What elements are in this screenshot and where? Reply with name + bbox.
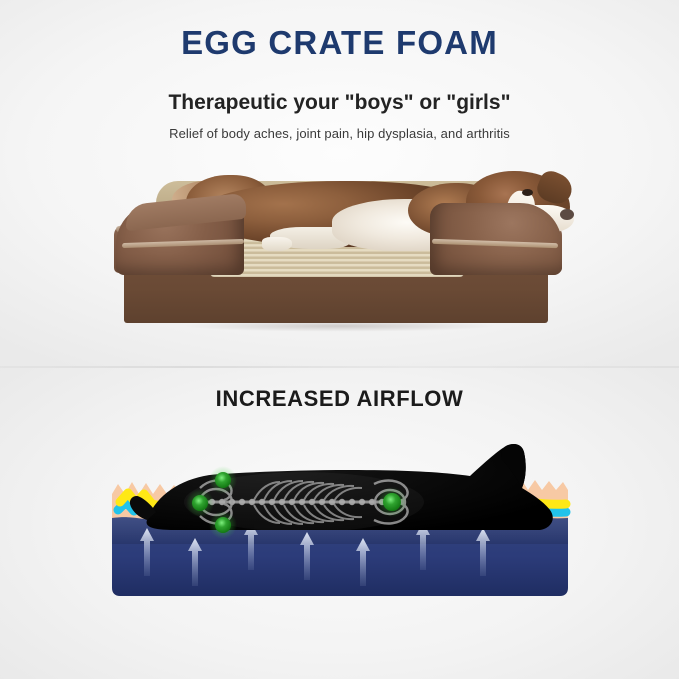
dog-bed-photo xyxy=(112,163,567,341)
product-feature-poster: EGG CRATE FOAM Therapeutic your "boys" o… xyxy=(0,0,679,679)
dog-silhouette-group xyxy=(130,444,553,539)
pressure-point-dot xyxy=(209,511,237,539)
section-title-airflow: INCREASED AIRFLOW xyxy=(0,386,679,412)
tagline: Relief of body aches, joint pain, hip dy… xyxy=(0,126,679,141)
pressure-point-dot xyxy=(377,487,407,517)
page-title: EGG CRATE FOAM xyxy=(0,24,679,62)
pressure-point-dot xyxy=(186,489,214,517)
subtitle: Therapeutic your "boys" or "girls" xyxy=(0,91,679,115)
airflow-diagram xyxy=(104,432,576,600)
dog-nose xyxy=(560,209,574,220)
dog-paw xyxy=(262,237,292,251)
pressure-point-dot xyxy=(209,466,237,494)
dog-eye xyxy=(522,189,533,196)
